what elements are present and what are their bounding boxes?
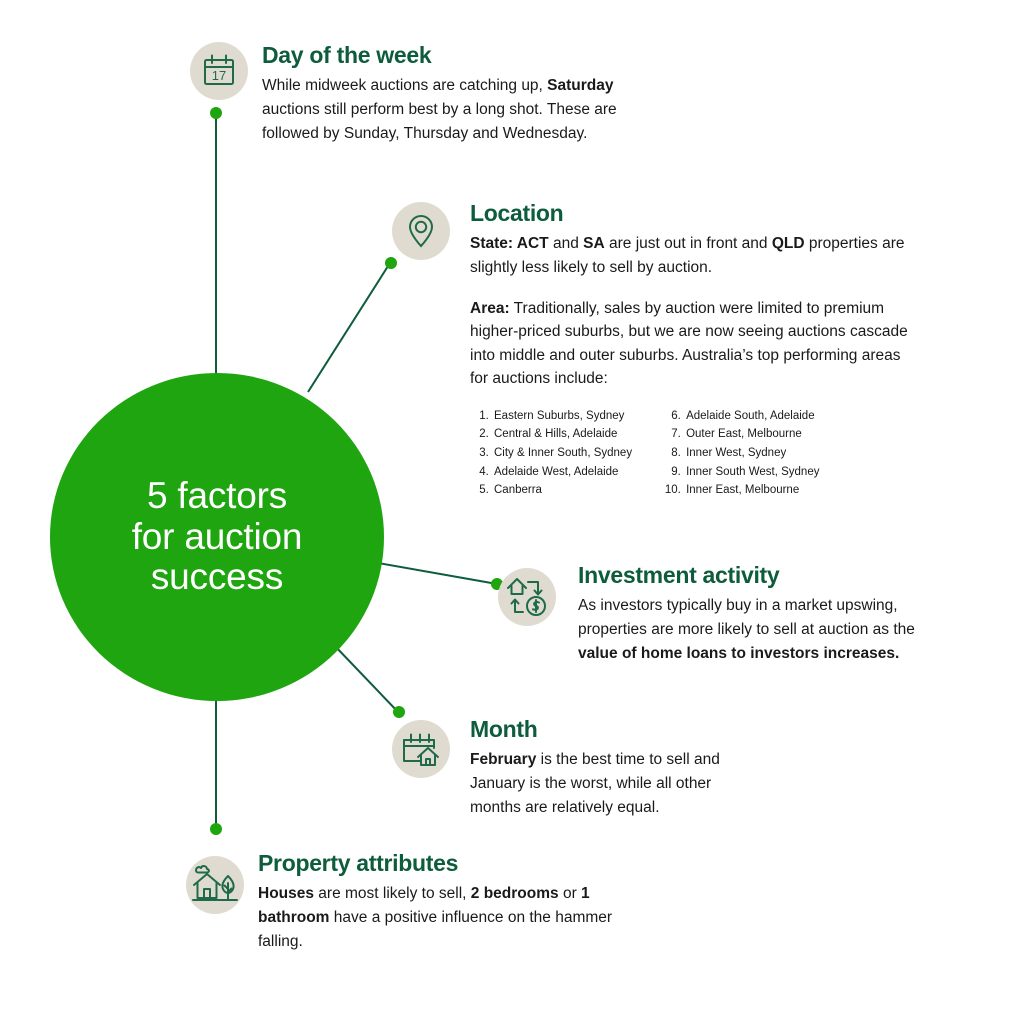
connector-dot-day-of-the-week (210, 107, 222, 119)
calendar-house-icon (392, 720, 450, 778)
list-item: Inner South West, Sydney (684, 463, 819, 482)
list-item: Adelaide West, Adelaide (492, 463, 632, 482)
node-paragraph-area: Area: Traditionally, sales by auction we… (470, 297, 920, 391)
node-paragraph: While midweek auctions are catching up, … (262, 74, 662, 145)
node-title: Location (470, 200, 920, 226)
node-paragraph: Houses are most likely to sell, 2 bedroo… (258, 882, 628, 953)
top-areas-column-1: Eastern Suburbs, SydneyCentral & Hills, … (470, 407, 632, 500)
node-paragraph-state: State: ACT and SA are just out in front … (470, 232, 920, 279)
list-item: Inner West, Sydney (684, 444, 819, 463)
list-item: Eastern Suburbs, Sydney (492, 407, 632, 426)
list-item: Canberra (492, 481, 632, 500)
node-title: Investment activity (578, 562, 943, 588)
node-month: Month February is the best time to sell … (470, 716, 760, 819)
central-hub: 5 factors for auction success (50, 373, 384, 701)
node-title: Day of the week (262, 42, 662, 68)
node-paragraph: February is the best time to sell and Ja… (470, 748, 760, 819)
top-areas-column-2: Adelaide South, AdelaideOuter East, Melb… (662, 407, 819, 500)
house-cycle-dollar-icon (498, 568, 556, 626)
list-item: Central & Hills, Adelaide (492, 425, 632, 444)
svg-text:17: 17 (212, 68, 226, 83)
node-day-of-the-week: 17 Day of the week While midweek auction… (262, 42, 662, 145)
connector-dot-location (385, 257, 397, 269)
map-pin-icon (392, 202, 450, 260)
list-item: Outer East, Melbourne (684, 425, 819, 444)
connector-investment-activity (378, 563, 497, 584)
node-location: Location State: ACT and SA are just out … (470, 200, 920, 500)
node-investment-activity: Investment activity As investors typical… (578, 562, 943, 665)
node-title: Property attributes (258, 850, 628, 876)
list-item: Adelaide South, Adelaide (684, 407, 819, 426)
house-tree-cloud-icon (186, 856, 244, 914)
node-property-attributes: Property attributes Houses are most like… (258, 850, 628, 953)
list-item: City & Inner South, Sydney (492, 444, 632, 463)
node-paragraph: As investors typically buy in a market u… (578, 594, 943, 665)
connector-dot-month (393, 706, 405, 718)
infographic-canvas: 5 factors for auction success 17 Day of … (0, 0, 1024, 1011)
connector-dot-property-attributes (210, 823, 222, 835)
calendar-17-icon: 17 (190, 42, 248, 100)
connector-month (333, 644, 399, 713)
top-areas-list: Eastern Suburbs, SydneyCentral & Hills, … (470, 407, 920, 500)
list-item: Inner East, Melbourne (684, 481, 819, 500)
node-title: Month (470, 716, 760, 742)
central-hub-label: 5 factors for auction success (132, 476, 303, 598)
connector-location (308, 263, 390, 392)
